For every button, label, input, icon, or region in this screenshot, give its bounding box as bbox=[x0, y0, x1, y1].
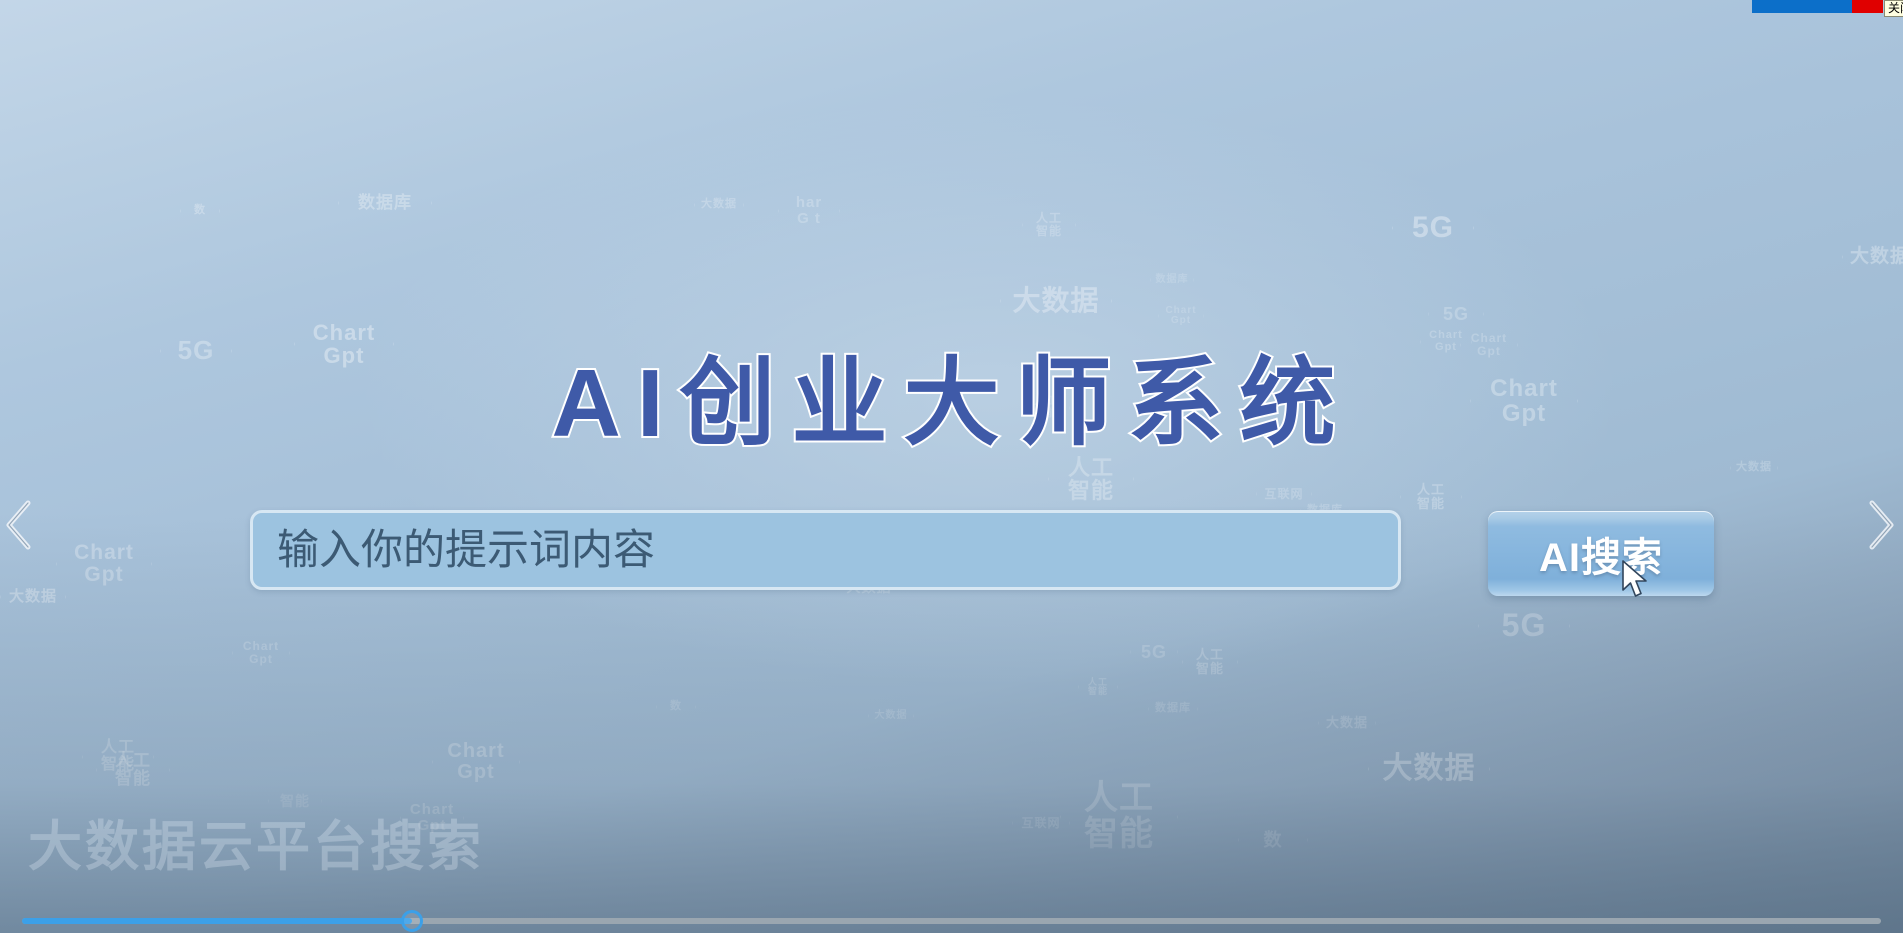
hexagon-outline-icon bbox=[1022, 194, 1076, 256]
bottom-slider[interactable] bbox=[0, 910, 1903, 932]
hexagon-outline-icon bbox=[0, 560, 66, 634]
background-hexagon: 人工智能 bbox=[1060, 750, 1178, 884]
slider-fill bbox=[22, 918, 412, 924]
hexagon-outline-icon bbox=[1318, 690, 1376, 756]
hexagon-outline-icon bbox=[868, 690, 914, 742]
hexagon-outline-icon bbox=[1012, 790, 1070, 856]
background-hexagon: 数据库 bbox=[1150, 255, 1194, 305]
background-hexagon: ChartGpt bbox=[56, 510, 152, 618]
background-hexagon: 大数据 bbox=[0, 560, 66, 634]
hexagon-label: 数据库 bbox=[354, 194, 416, 212]
background-hexagon: 5G bbox=[1392, 182, 1474, 274]
background-hexagon: 数 bbox=[180, 188, 220, 234]
prompt-input[interactable] bbox=[250, 510, 1401, 590]
hexagon-outline-icon bbox=[1078, 664, 1118, 710]
hexagon-label: 人工智能 bbox=[97, 740, 139, 774]
hexagon-label: 大数据 bbox=[871, 711, 912, 722]
background-hexagon: 大数据 bbox=[868, 690, 914, 742]
hexagon-outline-icon bbox=[778, 176, 840, 246]
hexagon-outline-icon bbox=[1150, 255, 1194, 305]
hexagon-label: 5G bbox=[1408, 212, 1458, 244]
hexagon-outline-icon bbox=[1060, 750, 1178, 884]
chevron-right-icon bbox=[1864, 497, 1898, 553]
hexagon-label: 数据库 bbox=[1152, 275, 1193, 286]
background-hexagon: 数据库 bbox=[1148, 680, 1198, 738]
hexagon-outline-icon bbox=[1392, 182, 1474, 274]
hexagon-label: 大数据 bbox=[1322, 716, 1372, 730]
hexagon-label: 数据库 bbox=[1151, 703, 1195, 715]
hexagon-outline-icon bbox=[656, 684, 696, 730]
hexagon-label: 人工智能 bbox=[1084, 678, 1112, 697]
hexagon-label: 5G bbox=[1498, 609, 1551, 643]
hexagon-label: 5G bbox=[1137, 643, 1171, 662]
hexagon-outline-icon bbox=[1130, 624, 1178, 680]
background-hexagon: harG t bbox=[778, 176, 840, 246]
hexagon-outline-icon bbox=[1400, 462, 1462, 532]
hexagon-label: 大数据 bbox=[1846, 247, 1903, 267]
hexagon-label: ChartGpt bbox=[1161, 306, 1200, 327]
background-hexagon: 大数据 bbox=[694, 176, 744, 234]
hexagon-outline-icon bbox=[56, 510, 152, 618]
hexagon-outline-icon bbox=[96, 728, 170, 812]
background-hexagon: 大数据 bbox=[1368, 700, 1490, 838]
background-hexagon: ChartGpt bbox=[432, 712, 520, 812]
background-hexagon: 人工智能 bbox=[1078, 664, 1118, 710]
hexagon-outline-icon bbox=[432, 712, 520, 812]
close-button[interactable] bbox=[1852, 0, 1883, 13]
hexagon-label: 人工智能 bbox=[1080, 781, 1158, 852]
hexagon-outline-icon bbox=[232, 620, 290, 686]
hexagon-outline-icon bbox=[1148, 680, 1198, 738]
background-hexagon: 人工智能 bbox=[1400, 462, 1462, 532]
background-hexagon: 5G bbox=[1130, 624, 1178, 680]
hexagon-label: 人工智能 bbox=[1192, 648, 1228, 675]
background-hexagon: ChartGpt bbox=[232, 620, 290, 686]
hexagon-label: 大数据 bbox=[1379, 753, 1480, 785]
hexagon-label: harG t bbox=[792, 195, 826, 227]
background-hexagon: 大数据 bbox=[1318, 690, 1376, 756]
hexagon-label: ChartGpt bbox=[239, 640, 283, 665]
hexagon-label: 5G bbox=[1439, 305, 1473, 324]
hexagon-label: 数 bbox=[190, 205, 210, 217]
page-title: AI创业大师系统 bbox=[0, 325, 1903, 464]
hexagon-label: 数 bbox=[666, 701, 686, 713]
background-hexagon: 人工智能 bbox=[96, 728, 170, 812]
background-hexagon: 互联网 bbox=[1012, 790, 1070, 856]
background-hexagon: 人工智能 bbox=[1022, 194, 1076, 256]
background-haze-overlay bbox=[0, 0, 1903, 933]
hexagon-outline-icon bbox=[338, 150, 432, 256]
hexagon-label: 人工智能 bbox=[111, 752, 155, 788]
hexagon-outline-icon bbox=[1842, 214, 1903, 300]
hexagon-outline-icon bbox=[1182, 630, 1238, 694]
hexagon-label: 大数据 bbox=[5, 589, 61, 605]
background-hexagon: 数 bbox=[1238, 800, 1308, 880]
hexagon-outline-icon bbox=[82, 716, 154, 798]
ai-search-button[interactable]: AI搜索 bbox=[1488, 511, 1714, 596]
hexagon-label: 互联网 bbox=[1260, 488, 1307, 501]
hexagon-label: 数 bbox=[1260, 831, 1287, 850]
hexagon-label: ChartGpt bbox=[70, 542, 138, 586]
hexagon-label: 大数据 bbox=[697, 199, 741, 211]
background-hexagon: 人工智能 bbox=[1182, 630, 1238, 694]
app-root: 数据库ChartGpt数5GChartGpt大数据人工智能ChartGpt大数据… bbox=[0, 0, 1903, 933]
background-hexagon: 数据库 bbox=[338, 150, 432, 256]
background-hexagon: 数 bbox=[656, 684, 696, 730]
hexagon-outline-icon bbox=[694, 176, 744, 234]
progress-bar bbox=[1752, 0, 1852, 13]
chevron-left-icon bbox=[2, 497, 36, 553]
hexagon-outline-icon bbox=[1238, 800, 1308, 880]
hexagon-label: 互联网 bbox=[1017, 817, 1064, 830]
hexagon-label: 人工智能 bbox=[1413, 483, 1449, 510]
hexagon-label: 人工智能 bbox=[1032, 212, 1066, 237]
top-overlay-strip: 关闭 bbox=[0, 0, 1903, 14]
carousel-prev-button[interactable] bbox=[2, 497, 36, 553]
hexagon-outline-icon bbox=[1368, 700, 1490, 838]
background-hexagon: 大数据 bbox=[1842, 214, 1903, 300]
slider-thumb[interactable] bbox=[401, 910, 423, 932]
hexagon-label: ChartGpt bbox=[443, 741, 508, 783]
hexagon-outline-icon bbox=[180, 188, 220, 234]
background-caption: 大数据云平台搜索 bbox=[28, 802, 484, 881]
background-hexagon-field: 数据库ChartGpt数5GChartGpt大数据人工智能ChartGpt大数据… bbox=[0, 0, 1903, 933]
background-hexagon: 人工智能 bbox=[82, 716, 154, 798]
hexagon-label: 大数据 bbox=[1008, 286, 1103, 315]
close-tooltip: 关闭 bbox=[1884, 0, 1903, 17]
carousel-next-button[interactable] bbox=[1864, 497, 1898, 553]
